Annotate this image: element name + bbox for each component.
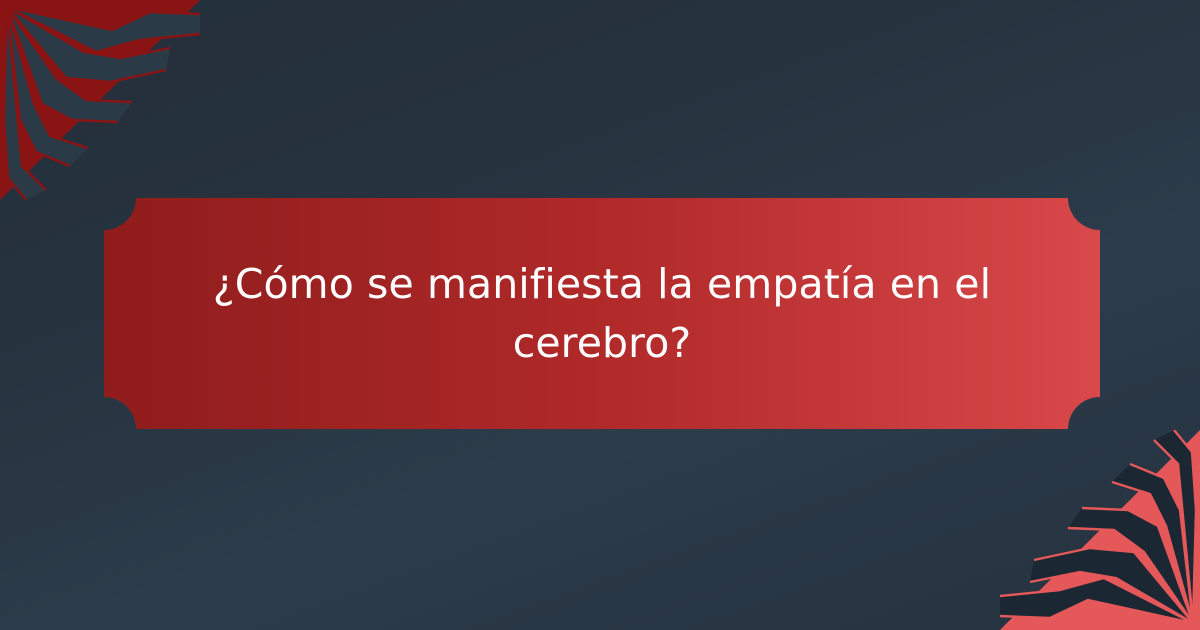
page-title: ¿Cómo se manifiesta la empatía en el cer…	[104, 198, 1100, 429]
corner-fan-ornament-bottom-right	[1000, 430, 1200, 630]
corner-fan-ornament-top-left	[0, 0, 200, 200]
title-banner: ¿Cómo se manifiesta la empatía en el cer…	[104, 198, 1100, 429]
poster-canvas: ¿Cómo se manifiesta la empatía en el cer…	[0, 0, 1200, 630]
